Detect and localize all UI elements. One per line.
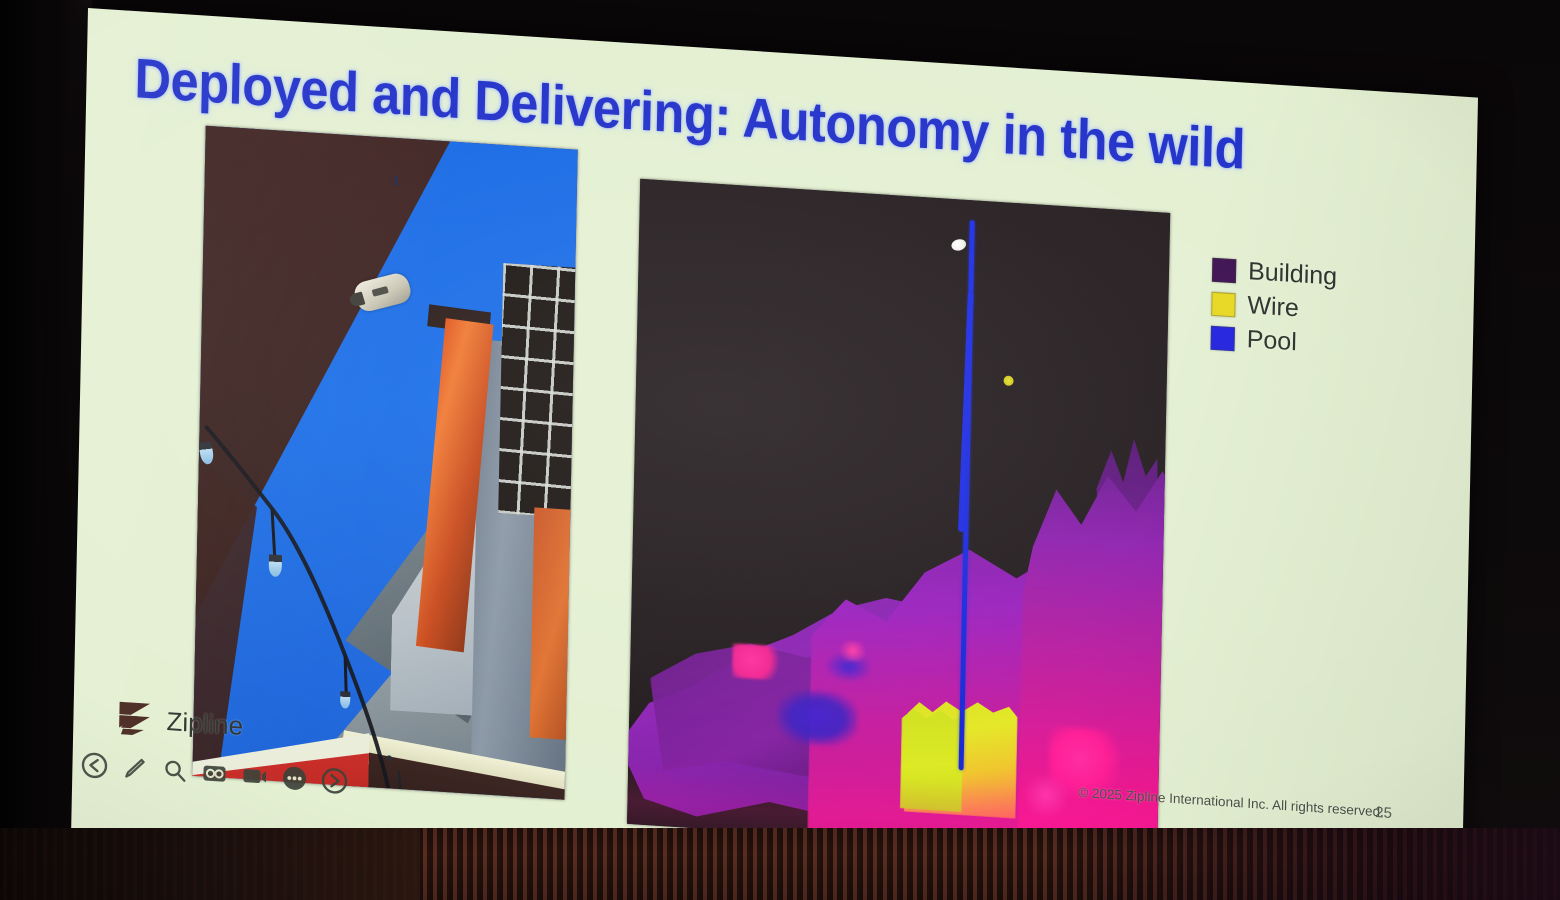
legend-swatch-pool <box>1210 325 1234 351</box>
legend-label-building: Building <box>1248 259 1337 290</box>
present-video-icon[interactable] <box>240 761 269 791</box>
legend-label-pool: Pool <box>1246 327 1297 355</box>
class-legend: Building Wire Pool <box>1210 257 1337 367</box>
left-photo-delivery <box>192 126 577 800</box>
search-zoom-icon[interactable] <box>160 756 189 786</box>
tether-and-string-lights <box>192 126 577 800</box>
previous-slide-icon[interactable] <box>80 751 109 781</box>
legend-item-building: Building <box>1212 257 1337 290</box>
point-cloud-hot-blob-left <box>732 643 781 680</box>
closed-captions-icon[interactable] <box>200 758 229 788</box>
more-options-icon[interactable] <box>280 763 309 793</box>
droid-label <box>372 286 389 297</box>
next-slide-icon[interactable] <box>320 766 349 796</box>
legend-swatch-wire <box>1211 291 1235 317</box>
pen-icon[interactable] <box>120 753 149 783</box>
right-point-cloud-view <box>627 179 1170 858</box>
zipline-logo-icon <box>115 699 154 739</box>
legend-item-wire: Wire <box>1211 291 1336 324</box>
page-number: 25 <box>1375 804 1392 822</box>
projection-screen: Deployed and Delivering: Autonomy in the… <box>88 8 1478 853</box>
point-cloud-yellow-marker <box>1003 375 1013 386</box>
legend-item-pool: Pool <box>1210 325 1335 358</box>
brand-name: Zipline <box>166 705 243 741</box>
slide-surface: Deployed and Delivering: Autonomy in the… <box>71 8 1478 900</box>
room-wall-shadow-right <box>1040 828 1560 900</box>
point-cloud-hot-blob-mid <box>839 640 867 662</box>
legend-label-wire: Wire <box>1247 293 1299 321</box>
room-wall-shadow-left <box>0 828 420 900</box>
distant-speck <box>395 176 398 186</box>
legend-swatch-building <box>1212 257 1236 283</box>
photographed-presentation-screen: Deployed and Delivering: Autonomy in the… <box>0 0 1560 900</box>
point-cloud-pool-class <box>777 688 858 747</box>
brand-lockup: Zipline <box>115 699 243 745</box>
